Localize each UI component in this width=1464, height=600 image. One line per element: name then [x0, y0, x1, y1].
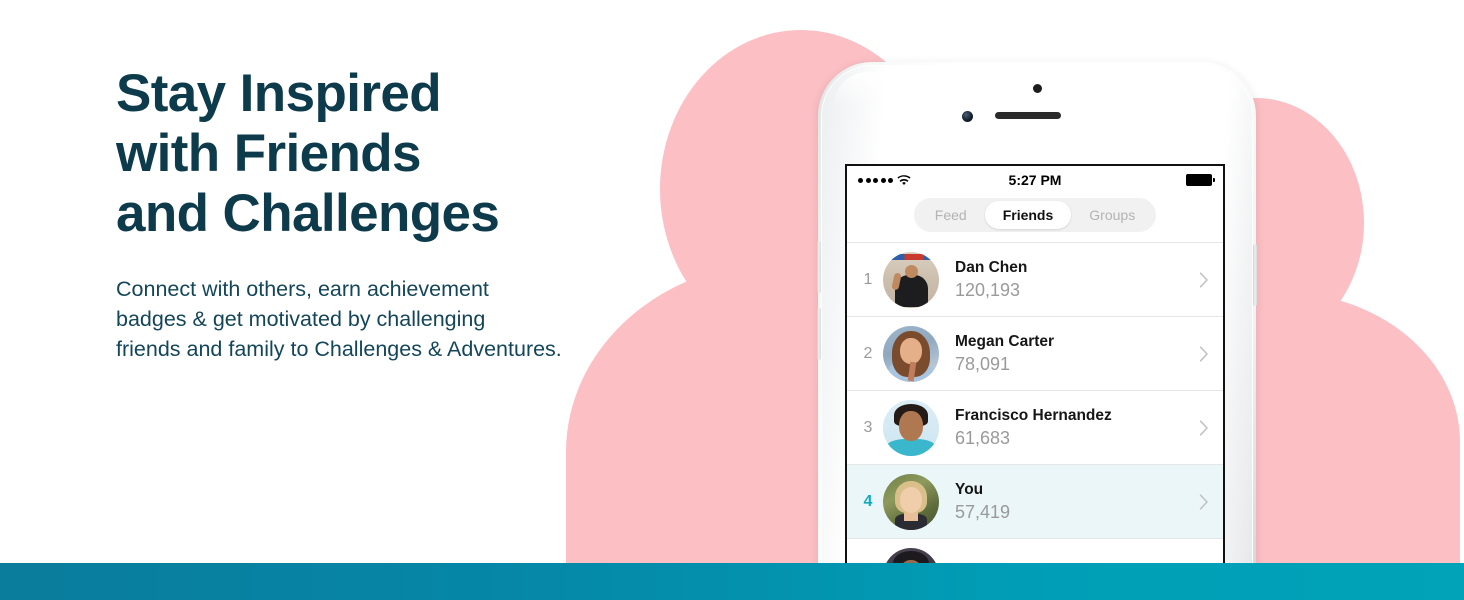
avatar: [883, 474, 939, 530]
avatar: [883, 326, 939, 382]
friend-name: Dan Chen: [955, 258, 1195, 278]
phone-screen: 5:27 PM Feed Friends Groups 1: [845, 164, 1225, 582]
tab-groups[interactable]: Groups: [1071, 201, 1153, 229]
table-row[interactable]: 1 Dan Chen 120,193: [847, 243, 1223, 317]
headline-line-1: Stay Inspired: [116, 64, 676, 124]
bottom-accent-bar: [0, 563, 1464, 600]
segmented-control[interactable]: Feed Friends Groups: [914, 198, 1156, 232]
tab-friends[interactable]: Friends: [985, 201, 1072, 229]
friend-name: Megan Carter: [955, 332, 1195, 352]
step-count: 78,091: [955, 352, 1195, 376]
chevron-right-icon[interactable]: [1195, 420, 1213, 436]
chevron-right-icon[interactable]: [1195, 346, 1213, 362]
step-count: 57,419: [955, 500, 1195, 524]
avatar: [883, 252, 939, 308]
proximity-sensor-icon: [1033, 84, 1042, 93]
earpiece-speaker-icon: [995, 112, 1061, 119]
table-row[interactable]: 3 Francisco Hernandez 61,683: [847, 391, 1223, 465]
avatar: [883, 400, 939, 456]
hero-copy: Stay Inspired with Friends and Challenge…: [116, 64, 676, 364]
phone-mockup: 5:27 PM Feed Friends Groups 1: [818, 62, 1256, 582]
headline-line-3: and Challenges: [116, 184, 676, 244]
volume-down-button[interactable]: [817, 308, 821, 360]
table-row[interactable]: 2 Megan Carter 78,091: [847, 317, 1223, 391]
power-button[interactable]: [1253, 244, 1257, 306]
rank-label: 3: [853, 419, 883, 437]
friend-name: Francisco Hernandez: [955, 406, 1195, 426]
headline-line-2: with Friends: [116, 124, 676, 184]
row-text: Dan Chen 120,193: [939, 258, 1195, 302]
step-count: 120,193: [955, 278, 1195, 302]
row-text: You 57,419: [939, 480, 1195, 524]
battery-full-icon: [1186, 174, 1212, 186]
row-text: Megan Carter 78,091: [939, 332, 1195, 376]
front-camera-icon: [962, 111, 973, 122]
rank-label: 2: [853, 345, 883, 363]
status-bar: 5:27 PM: [847, 166, 1223, 194]
status-bar-time: 5:27 PM: [847, 166, 1223, 194]
rank-label: 4: [853, 493, 883, 511]
promo-banner: Stay Inspired with Friends and Challenge…: [0, 0, 1464, 600]
table-row-you[interactable]: 4 You 57,419: [847, 465, 1223, 539]
page-title: Stay Inspired with Friends and Challenge…: [116, 64, 676, 244]
tab-feed[interactable]: Feed: [917, 201, 985, 229]
body-line-2: badges & get motivated by challenging: [116, 304, 676, 334]
tab-bar: Feed Friends Groups: [847, 194, 1223, 243]
volume-up-button[interactable]: [817, 241, 821, 293]
body-line-1: Connect with others, earn achievement: [116, 274, 676, 304]
chevron-right-icon[interactable]: [1195, 494, 1213, 510]
chevron-right-icon[interactable]: [1195, 272, 1213, 288]
status-bar-right: [1186, 174, 1212, 186]
hero-description: Connect with others, earn achievement ba…: [116, 274, 676, 364]
rank-label: 1: [853, 271, 883, 289]
row-text: Francisco Hernandez 61,683: [939, 406, 1195, 450]
friend-name: You: [955, 480, 1195, 500]
friends-leaderboard-list: 1 Dan Chen 120,193 2: [847, 243, 1223, 582]
step-count: 61,683: [955, 426, 1195, 450]
body-line-3: friends and family to Challenges & Adven…: [116, 334, 676, 364]
